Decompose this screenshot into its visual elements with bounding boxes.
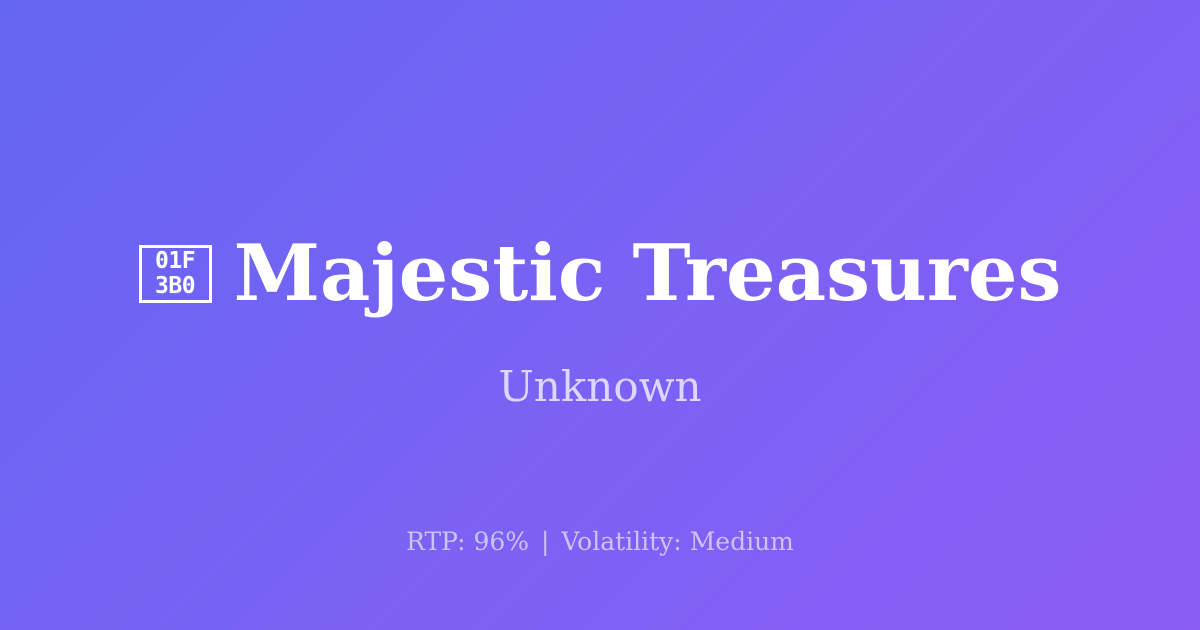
title-row: 01F 3B0 Majestic Treasures xyxy=(0,232,1200,316)
og-share-card: 01F 3B0 Majestic Treasures Unknown RTP: … xyxy=(0,0,1200,630)
emoji-codepoint-line2: 3B0 xyxy=(155,274,195,299)
volatility-value: Medium xyxy=(690,527,794,556)
provider-label: Unknown xyxy=(0,362,1200,412)
slot-machine-emoji: 01F 3B0 xyxy=(139,245,212,303)
rtp-label: RTP: xyxy=(406,527,465,556)
stats-separator: | xyxy=(537,527,553,556)
emoji-codepoint-line1: 01F xyxy=(155,249,195,274)
page-title: Majestic Treasures xyxy=(234,232,1062,316)
rtp-value: 96% xyxy=(473,527,529,556)
game-stats: RTP: 96% | Volatility: Medium xyxy=(0,526,1200,558)
volatility-label: Volatility: xyxy=(561,527,681,556)
